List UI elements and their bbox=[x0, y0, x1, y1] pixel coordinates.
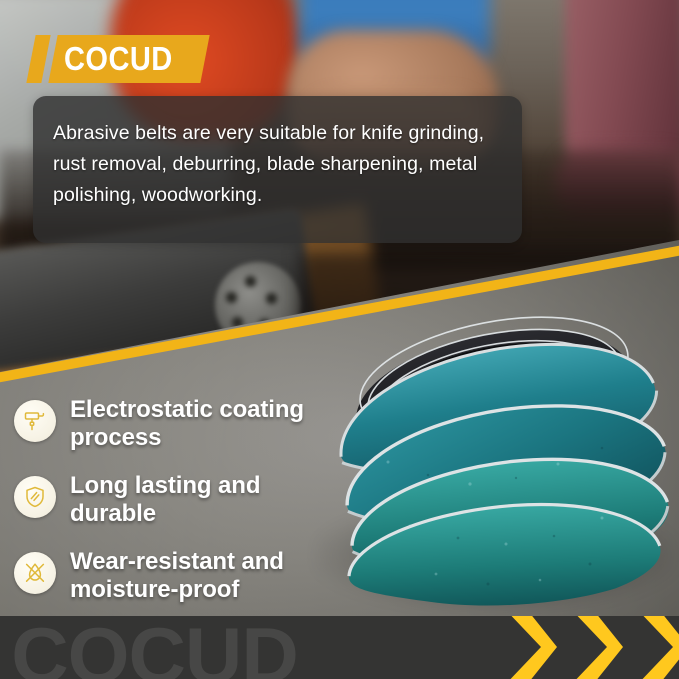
product-image: 1Z461 600 bbox=[318, 312, 679, 612]
feature-item-moisture-proof: Wear-resistant and moisture-proof bbox=[14, 548, 354, 604]
roller-hole bbox=[266, 293, 277, 304]
description-text: Abrasive belts are very suitable for kni… bbox=[53, 118, 505, 211]
banner-watermark: COCUD bbox=[11, 616, 298, 679]
feature-item-electrostatic-coating: Electrostatic coating process bbox=[14, 396, 354, 452]
roller-hole bbox=[245, 276, 256, 287]
feature-icon-badge bbox=[14, 400, 56, 442]
product-infographic: 1Z461 600 bbox=[0, 0, 679, 679]
chevron-arrow-group bbox=[491, 616, 679, 679]
paint-roller-icon bbox=[22, 408, 48, 434]
feature-label: Wear-resistant and moisture-proof bbox=[70, 548, 332, 604]
feature-label: Long lasting and durable bbox=[70, 472, 332, 528]
roller-hole bbox=[226, 292, 237, 303]
chevron-right-icon bbox=[631, 616, 679, 679]
description-callout: Abrasive belts are very suitable for kni… bbox=[33, 96, 522, 243]
feature-label: Electrostatic coating process bbox=[70, 396, 332, 452]
logo-wordmark: COCUD bbox=[64, 35, 198, 83]
feature-icon-badge bbox=[14, 476, 56, 518]
chevron-right-icon bbox=[565, 616, 623, 679]
shield-icon bbox=[22, 484, 48, 510]
feature-list: Electrostatic coating process Long lasti… bbox=[14, 396, 354, 618]
feature-icon-badge bbox=[14, 552, 56, 594]
chevron-right-icon bbox=[499, 616, 557, 679]
feature-item-long-lasting: Long lasting and durable bbox=[14, 472, 354, 528]
no-moisture-drop-icon bbox=[22, 560, 48, 586]
bottom-banner: COCUD bbox=[0, 616, 679, 679]
